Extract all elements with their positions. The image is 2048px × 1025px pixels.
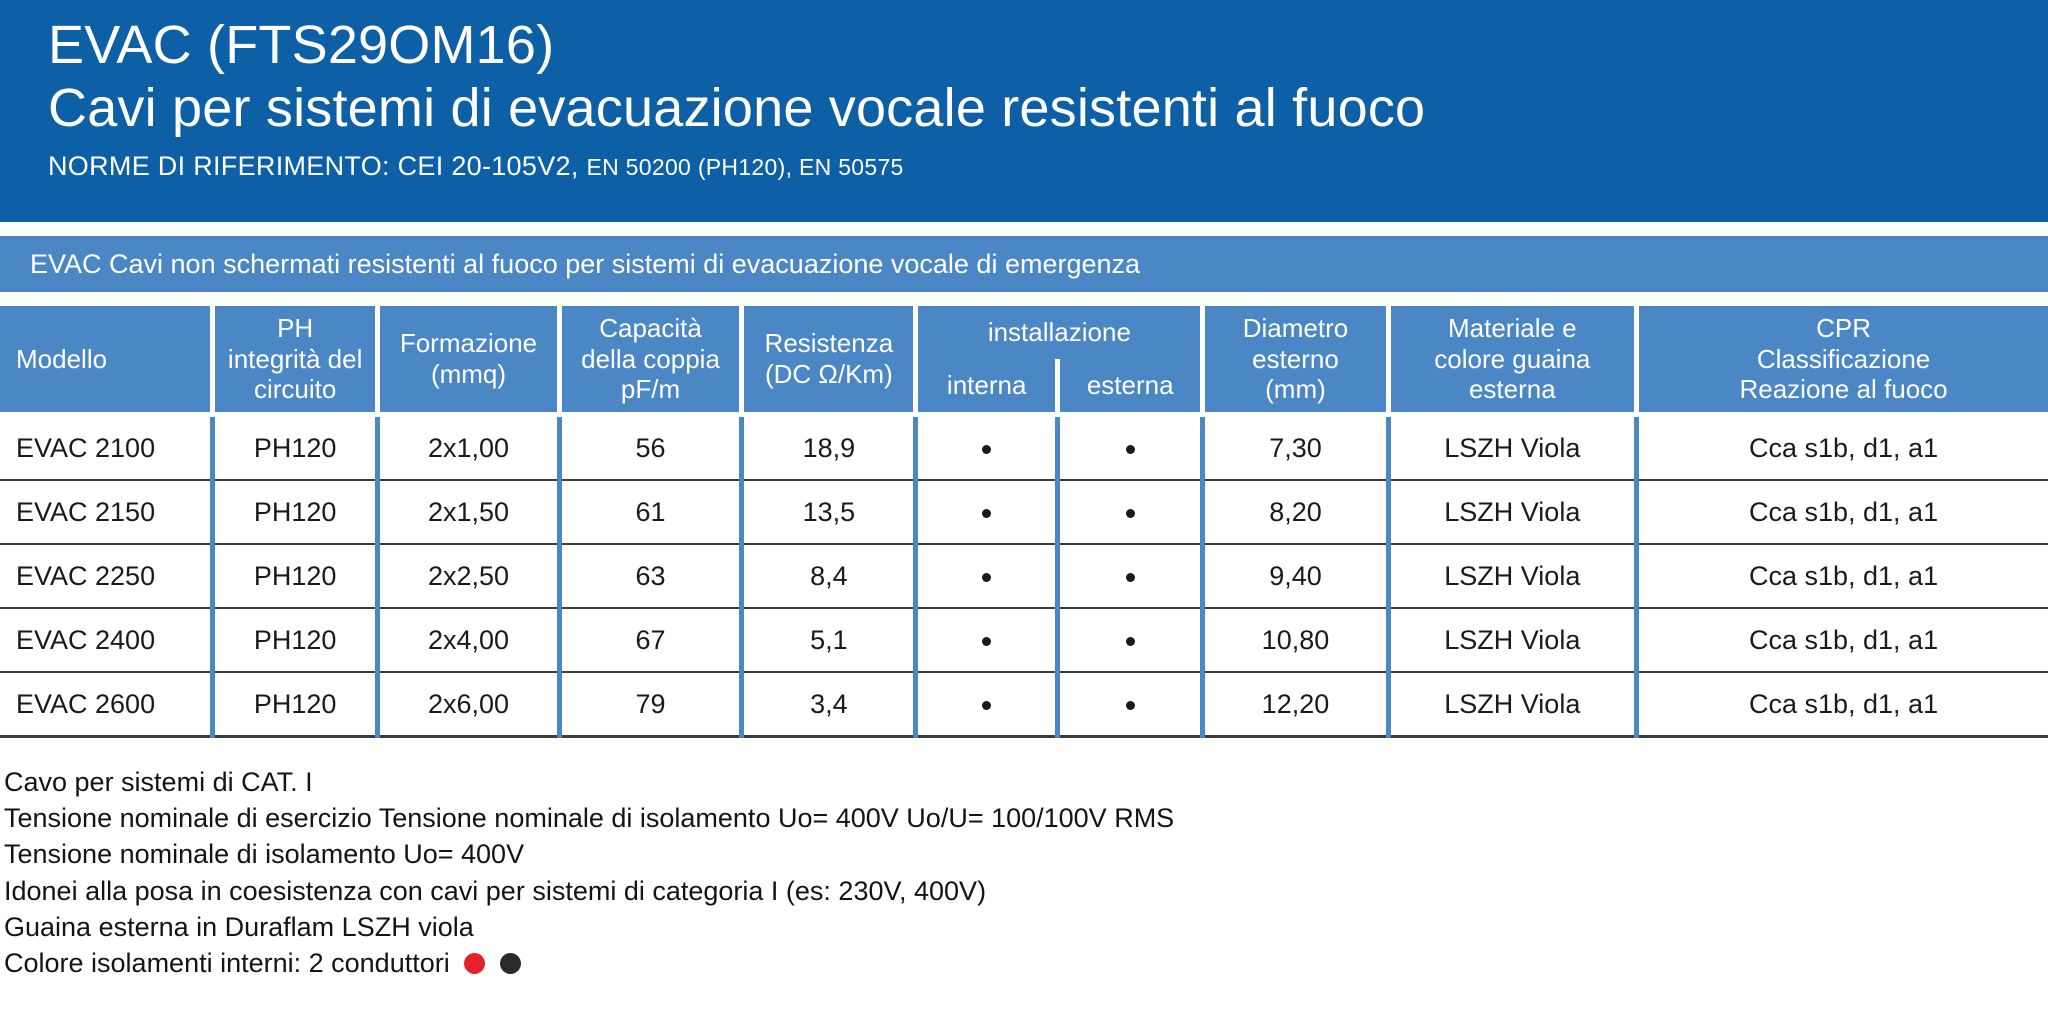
spec-table-head: Modello PH integrità del circuito Formaz… [0,306,2048,415]
note-line: Tensione nominale di esercizio Tensione … [4,800,2048,836]
col-header-diametro-line3: (mm) [1211,374,1379,405]
cell-formazione: 2x6,00 [378,672,559,737]
cell-cpr: Cca s1b, d1, a1 [1637,480,2048,544]
cell-capacita: 79 [559,672,742,737]
bullet-icon [1126,637,1135,646]
col-header-ph: PH integrità del circuito [213,306,378,415]
bullet-icon [1126,701,1135,710]
section-header-label: EVAC Cavi non schermati resistenti al fu… [30,249,1140,280]
note-line: Idonei alla posa in coesistenza con cavi… [4,873,2048,909]
cell-modello: EVAC 2100 [0,415,213,481]
cell-capacita: 63 [559,544,742,608]
conductor-color-red-icon [464,953,485,974]
cell-formazione: 2x1,50 [378,480,559,544]
technical-notes: Cavo per sistemi di CAT. I Tensione nomi… [0,764,2048,981]
cell-capacita: 56 [559,415,742,481]
cell-formazione: 2x2,50 [378,544,559,608]
cell-diametro: 9,40 [1203,544,1388,608]
section-header: EVAC Cavi non schermati resistenti al fu… [0,236,2048,292]
cell-ph: PH120 [213,480,378,544]
reference-norms-main: NORME DI RIFERIMENTO: CEI 20-105V2, [48,151,579,181]
product-banner: EVAC (FTS29OM16) Cavi per sistemi di eva… [0,0,2048,222]
cell-materiale: LSZH Viola [1388,672,1637,737]
product-code-title: EVAC (FTS29OM16) [48,14,2048,77]
bullet-icon [1126,509,1135,518]
cell-materiale: LSZH Viola [1388,415,1637,481]
table-row: EVAC 2600 PH120 2x6,00 79 3,4 12,20 LSZH… [0,672,2048,737]
cell-modello: EVAC 2250 [0,544,213,608]
bullet-icon [1126,445,1135,454]
cell-capacita: 67 [559,608,742,672]
cell-modello: EVAC 2150 [0,480,213,544]
col-header-ph-line3: circuito [221,374,369,405]
cell-installazione-interna [916,415,1058,481]
col-header-installazione-esterna: esterna [1058,359,1203,415]
bullet-icon [1126,573,1135,582]
bullet-icon [982,445,991,454]
bullet-icon [982,701,991,710]
note-line-label: Colore isolamenti interni: 2 conduttori [4,948,450,978]
note-line: Cavo per sistemi di CAT. I [4,764,2048,800]
cell-materiale: LSZH Viola [1388,608,1637,672]
col-header-cpr-line2: Classificazione [1645,344,2042,375]
col-header-ph-line1: PH [221,313,369,344]
header-row-main: Modello PH integrità del circuito Formaz… [0,306,2048,359]
col-header-capacita-line2: della coppia [568,344,734,375]
cell-installazione-esterna [1058,480,1203,544]
col-header-resistenza: Resistenza (DC Ω/Km) [742,306,916,415]
cell-diametro: 10,80 [1203,608,1388,672]
note-line: Guaina esterna in Duraflam LSZH viola [4,909,2048,945]
cell-modello: EVAC 2400 [0,608,213,672]
bullet-icon [982,509,991,518]
spec-table-body: EVAC 2100 PH120 2x1,00 56 18,9 7,30 LSZH… [0,415,2048,737]
col-header-materiale-line2: colore guaina [1397,344,1629,375]
col-header-capacita-line1: Capacità [568,313,734,344]
cell-cpr: Cca s1b, d1, a1 [1637,415,2048,481]
cell-resistenza: 18,9 [742,415,916,481]
table-row: EVAC 2100 PH120 2x1,00 56 18,9 7,30 LSZH… [0,415,2048,481]
col-header-diametro: Diametro esterno (mm) [1203,306,1388,415]
cell-installazione-interna [916,480,1058,544]
reference-norms: NORME DI RIFERIMENTO: CEI 20-105V2, EN 5… [48,151,2048,182]
note-line-conductor-colors: Colore isolamenti interni: 2 conduttori [4,945,2048,981]
col-header-formazione-line2: (mmq) [386,359,550,390]
col-header-diametro-line2: esterno [1211,344,1379,375]
col-header-ph-line2: integrità del [221,344,369,375]
cell-ph: PH120 [213,544,378,608]
reference-norms-extra: EN 50200 (PH120), EN 50575 [586,154,903,180]
cell-installazione-interna [916,608,1058,672]
col-header-materiale-line3: esterna [1397,374,1629,405]
col-header-resistenza-line2: (DC Ω/Km) [750,359,907,390]
cell-resistenza: 8,4 [742,544,916,608]
col-header-formazione-line1: Formazione [386,328,550,359]
table-row: EVAC 2250 PH120 2x2,50 63 8,4 9,40 LSZH … [0,544,2048,608]
cell-installazione-esterna [1058,672,1203,737]
cell-diametro: 8,20 [1203,480,1388,544]
table-row: EVAC 2150 PH120 2x1,50 61 13,5 8,20 LSZH… [0,480,2048,544]
cell-installazione-esterna [1058,544,1203,608]
cell-installazione-interna [916,672,1058,737]
cell-materiale: LSZH Viola [1388,544,1637,608]
cell-diametro: 7,30 [1203,415,1388,481]
spec-table-container: Modello PH integrità del circuito Formaz… [0,306,2048,738]
cell-resistenza: 13,5 [742,480,916,544]
col-header-cpr-line3: Reazione al fuoco [1645,374,2042,405]
cell-resistenza: 3,4 [742,672,916,737]
col-header-formazione: Formazione (mmq) [378,306,559,415]
cell-formazione: 2x1,00 [378,415,559,481]
col-header-cpr-line1: CPR [1645,313,2042,344]
note-line: Tensione nominale di isolamento Uo= 400V [4,836,2048,872]
col-header-materiale: Materiale e colore guaina esterna [1388,306,1637,415]
bullet-icon [982,573,991,582]
col-header-resistenza-line1: Resistenza [750,328,907,359]
col-header-installazione: installazione [916,306,1203,359]
col-header-installazione-interna: interna [916,359,1058,415]
cell-cpr: Cca s1b, d1, a1 [1637,608,2048,672]
cell-resistenza: 5,1 [742,608,916,672]
cell-materiale: LSZH Viola [1388,480,1637,544]
col-header-diametro-line1: Diametro [1211,313,1379,344]
bullet-icon [982,637,991,646]
col-header-cpr: CPR Classificazione Reazione al fuoco [1637,306,2048,415]
product-description-title: Cavi per sistemi di evacuazione vocale r… [48,77,2048,140]
cell-ph: PH120 [213,608,378,672]
cell-installazione-esterna [1058,415,1203,481]
spec-table: Modello PH integrità del circuito Formaz… [0,306,2048,738]
col-header-materiale-line1: Materiale e [1397,313,1629,344]
table-row: EVAC 2400 PH120 2x4,00 67 5,1 10,80 LSZH… [0,608,2048,672]
cell-modello: EVAC 2600 [0,672,213,737]
cell-cpr: Cca s1b, d1, a1 [1637,544,2048,608]
cell-diametro: 12,20 [1203,672,1388,737]
cell-ph: PH120 [213,672,378,737]
col-header-modello: Modello [0,306,213,415]
cell-capacita: 61 [559,480,742,544]
cell-installazione-esterna [1058,608,1203,672]
col-header-capacita: Capacità della coppia pF/m [559,306,742,415]
cell-formazione: 2x4,00 [378,608,559,672]
col-header-capacita-line3: pF/m [568,374,734,405]
cell-ph: PH120 [213,415,378,481]
cell-installazione-interna [916,544,1058,608]
conductor-color-black-icon [500,953,521,974]
cell-cpr: Cca s1b, d1, a1 [1637,672,2048,737]
